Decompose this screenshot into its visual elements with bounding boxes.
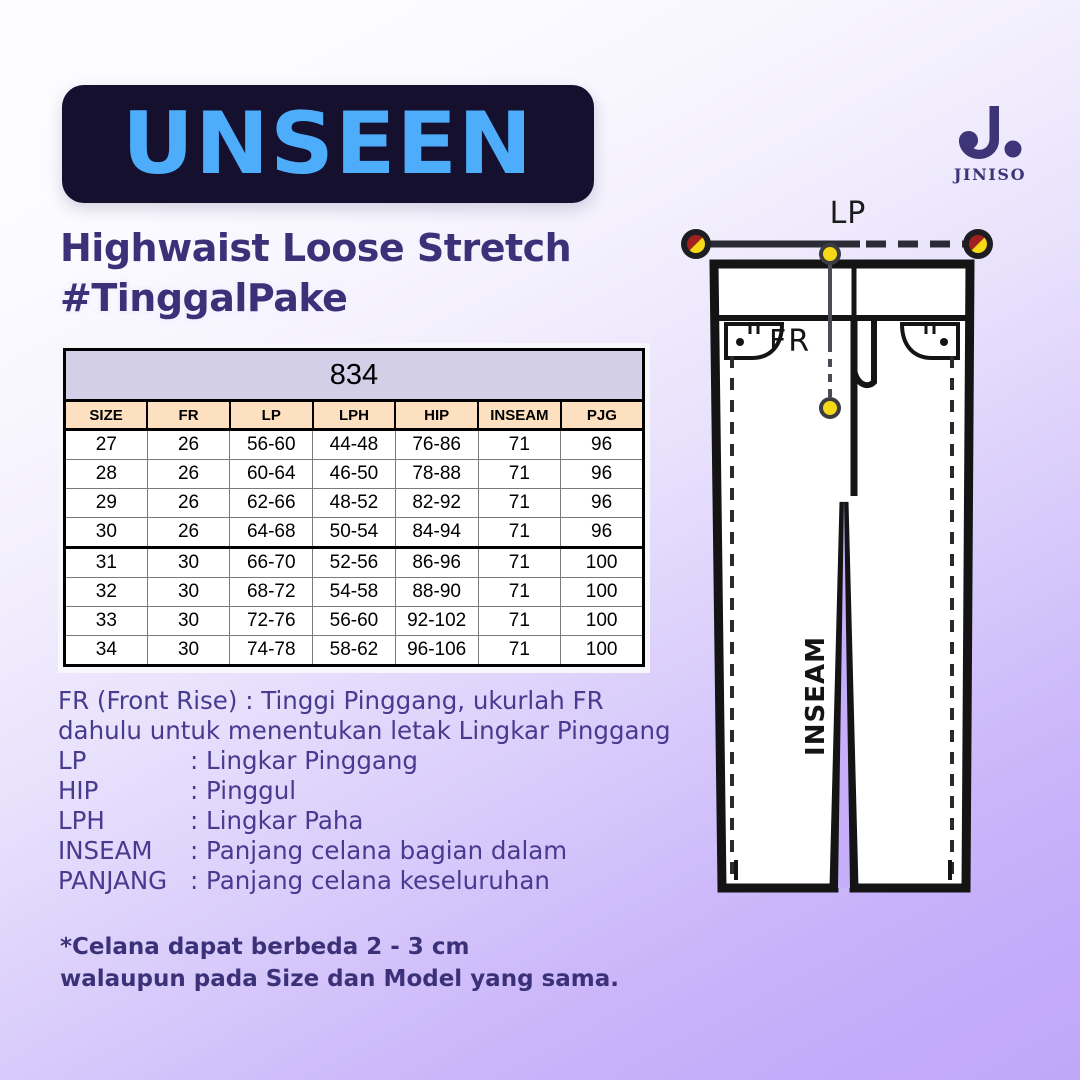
disclaimer-line-2: walaupun pada Size dan Model yang sama. <box>60 966 619 992</box>
size-table-head: 834 SIZE FR LP LPH HIP INSEAM PJG <box>65 350 644 430</box>
fr-anchor-top <box>819 243 841 265</box>
legend-item-lp: LP: Lingkar Pinggang <box>58 746 698 776</box>
table-cell: 68-72 <box>230 578 313 607</box>
table-row: 282660-6446-5078-887196 <box>65 460 644 489</box>
logo-dot <box>1005 141 1022 158</box>
disclaimer-line-1: *Celana dapat berbeda 2 - 3 cm <box>60 934 469 960</box>
logo-wordmark: JINISO <box>938 165 1042 184</box>
pants-illustration: FR INSEAM <box>678 196 1018 902</box>
logo-j-mark <box>957 104 1023 162</box>
product-hashtag: #TinggalPake <box>60 276 347 320</box>
table-cell: 56-60 <box>230 430 313 460</box>
table-cell: 100 <box>561 578 644 607</box>
table-cell: 62-66 <box>230 489 313 518</box>
legend-value-hip: : Pinggul <box>190 776 296 805</box>
column-header-lp: LP <box>230 401 313 430</box>
table-cell: 82-92 <box>395 489 478 518</box>
table-cell: 28 <box>65 460 148 489</box>
table-cell: 44-48 <box>313 430 396 460</box>
table-row: 302664-6850-5484-947196 <box>65 518 644 548</box>
table-cell: 64-68 <box>230 518 313 548</box>
size-table: 834 SIZE FR LP LPH HIP INSEAM PJG 272656… <box>63 348 645 667</box>
table-cell: 27 <box>65 430 148 460</box>
legend-label-inseam: INSEAM <box>58 836 190 866</box>
table-cell: 100 <box>561 548 644 578</box>
table-cell: 31 <box>65 548 148 578</box>
table-cell: 34 <box>65 636 148 666</box>
table-cell: 71 <box>478 460 561 489</box>
fr-text-label: FR <box>769 324 811 359</box>
fr-anchor-bottom <box>819 397 841 419</box>
column-header-lph: LPH <box>313 401 396 430</box>
size-table-header-row: SIZE FR LP LPH HIP INSEAM PJG <box>65 401 644 430</box>
column-header-pjg: PJG <box>561 401 644 430</box>
legend-value-panjang: : Panjang celana keseluruhan <box>190 866 550 895</box>
table-cell: 72-76 <box>230 607 313 636</box>
table-row: 343074-7858-6296-10671100 <box>65 636 644 666</box>
table-row: 292662-6648-5282-927196 <box>65 489 644 518</box>
table-cell: 71 <box>478 489 561 518</box>
legend-fr-line-1: FR (Front Rise) : Tinggi Pinggang, ukurl… <box>58 686 698 716</box>
table-cell: 26 <box>147 460 230 489</box>
table-cell: 96 <box>561 489 644 518</box>
table-cell: 46-50 <box>313 460 396 489</box>
table-cell: 56-60 <box>313 607 396 636</box>
column-header-size: SIZE <box>65 401 148 430</box>
table-cell: 29 <box>65 489 148 518</box>
unseen-badge: UNSEEN <box>62 85 594 203</box>
jiniso-logo: JINISO <box>938 104 1042 184</box>
table-cell: 54-58 <box>313 578 396 607</box>
pants-measurement-diagram: LP <box>678 196 1018 902</box>
table-cell: 96 <box>561 430 644 460</box>
table-cell: 100 <box>561 636 644 666</box>
table-cell: 96 <box>561 460 644 489</box>
table-cell: 48-52 <box>313 489 396 518</box>
table-row: 333072-7656-6092-10271100 <box>65 607 644 636</box>
table-cell: 66-70 <box>230 548 313 578</box>
table-cell: 30 <box>147 607 230 636</box>
table-cell: 50-54 <box>313 518 396 548</box>
table-cell: 96 <box>561 518 644 548</box>
product-title: Highwaist Loose Stretch <box>60 226 571 270</box>
table-cell: 96-106 <box>395 636 478 666</box>
table-cell: 92-102 <box>395 607 478 636</box>
table-cell: 30 <box>65 518 148 548</box>
legend-item-panjang: PANJANG: Panjang celana keseluruhan <box>58 866 698 896</box>
size-chart-canvas: UNSEEN Highwaist Loose Stretch #TinggalP… <box>0 0 1080 1080</box>
table-row: 313066-7052-5686-9671100 <box>65 548 644 578</box>
legend-label-lp: LP <box>58 746 190 776</box>
tape-measure-icon-left <box>681 229 711 259</box>
legend-item-inseam: INSEAM: Panjang celana bagian dalam <box>58 836 698 866</box>
table-cell: 30 <box>147 578 230 607</box>
legend-label-lph: LPH <box>58 806 190 836</box>
table-cell: 84-94 <box>395 518 478 548</box>
legend-label-panjang: PANJANG <box>58 866 190 896</box>
legend-value-lp: : Lingkar Pinggang <box>190 746 418 775</box>
legend-value-inseam: : Panjang celana bagian dalam <box>190 836 567 865</box>
legend-label-hip: HIP <box>58 776 190 806</box>
table-cell: 71 <box>478 636 561 666</box>
tape-measure-icon-right <box>963 229 993 259</box>
unseen-badge-label: UNSEEN <box>122 101 533 187</box>
right-pocket-rivet <box>940 338 948 346</box>
table-cell: 30 <box>147 636 230 666</box>
table-cell: 33 <box>65 607 148 636</box>
table-cell: 86-96 <box>395 548 478 578</box>
table-row: 323068-7254-5888-9071100 <box>65 578 644 607</box>
table-cell: 26 <box>147 430 230 460</box>
table-cell: 78-88 <box>395 460 478 489</box>
column-header-inseam: INSEAM <box>478 401 561 430</box>
table-cell: 58-62 <box>313 636 396 666</box>
table-cell: 32 <box>65 578 148 607</box>
lp-dimension-label: LP <box>678 196 1018 231</box>
table-cell: 74-78 <box>230 636 313 666</box>
table-cell: 100 <box>561 607 644 636</box>
table-cell: 71 <box>478 518 561 548</box>
disclaimer-note: *Celana dapat berbeda 2 - 3 cm walaupun … <box>60 931 700 995</box>
table-cell: 71 <box>478 430 561 460</box>
inseam-text-label: INSEAM <box>801 636 831 756</box>
table-cell: 71 <box>478 548 561 578</box>
table-cell: 26 <box>147 489 230 518</box>
left-pocket-rivet <box>736 338 744 346</box>
table-cell: 76-86 <box>395 430 478 460</box>
size-table-title-row: 834 <box>65 350 644 401</box>
size-table-body: 272656-6044-4876-867196282660-6446-5078-… <box>65 430 644 666</box>
legend-fr-line-2: dahulu untuk menentukan letak Lingkar Pi… <box>58 716 698 746</box>
size-table-container: 834 SIZE FR LP LPH HIP INSEAM PJG 272656… <box>58 343 650 673</box>
table-row: 272656-6044-4876-867196 <box>65 430 644 460</box>
table-cell: 52-56 <box>313 548 396 578</box>
measurement-legend: FR (Front Rise) : Tinggi Pinggang, ukurl… <box>58 686 698 896</box>
legend-item-lph: LPH: Lingkar Paha <box>58 806 698 836</box>
table-cell: 26 <box>147 518 230 548</box>
legend-value-lph: : Lingkar Paha <box>190 806 363 835</box>
table-cell: 30 <box>147 548 230 578</box>
legend-item-hip: HIP: Pinggul <box>58 776 698 806</box>
table-cell: 88-90 <box>395 578 478 607</box>
size-table-title: 834 <box>65 350 644 401</box>
column-header-hip: HIP <box>395 401 478 430</box>
table-cell: 71 <box>478 607 561 636</box>
table-cell: 71 <box>478 578 561 607</box>
column-header-fr: FR <box>147 401 230 430</box>
table-cell: 60-64 <box>230 460 313 489</box>
